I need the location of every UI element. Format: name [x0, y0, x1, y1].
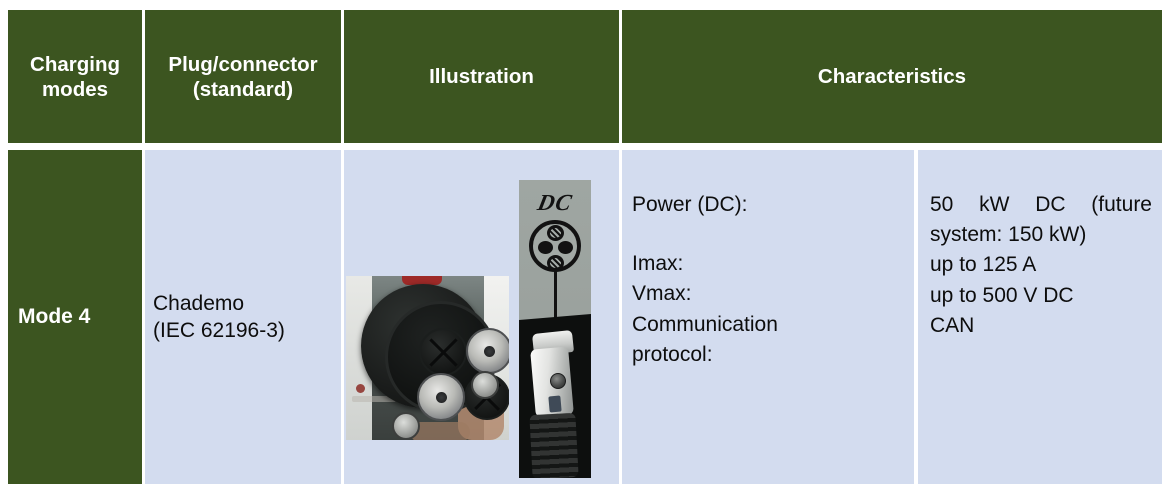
- value-vmax: up to 500 V DC: [930, 281, 1152, 311]
- dc-charging-station-photo: DC: [519, 180, 591, 478]
- header-cell-characteristics: Characteristics: [622, 10, 1162, 143]
- header-label-illustration: Illustration: [429, 64, 534, 89]
- value-imax: up to 125 A: [930, 250, 1152, 280]
- socket-pin-right: [558, 241, 573, 254]
- label-imax: Imax:: [632, 249, 914, 279]
- pictogram-stem: [554, 270, 557, 318]
- cell-characteristic-labels: Power (DC): Imax: Vmax: Communication pr…: [622, 150, 914, 484]
- connector-red-dot: [356, 384, 365, 393]
- header-cell-illustration: Illustration: [344, 10, 619, 143]
- connector-bolt-1: [471, 371, 499, 399]
- header-cell-charging-modes: Charging modes: [8, 10, 142, 143]
- header-cell-plug-connector: Plug/connector (standard): [145, 10, 341, 143]
- connector-pin-metal-1: [466, 328, 509, 374]
- label-communication: Communication: [632, 310, 914, 340]
- value-power-line1: 50 kW DC (future: [930, 190, 1152, 220]
- connector-outer-ring: [361, 284, 485, 408]
- socket-pin-left: [538, 241, 553, 254]
- plug-name: Chademo: [153, 292, 244, 315]
- header-label-characteristics: Characteristics: [818, 64, 966, 89]
- connector-bolt-2: [392, 412, 420, 440]
- cell-characteristic-values: 50 kW DC (future system: 150 kW) up to 1…: [918, 150, 1162, 484]
- label-vmax: Vmax:: [632, 279, 914, 309]
- header-label-plug-connector: Plug/connector (standard): [168, 52, 317, 102]
- plug-screw: [550, 373, 566, 389]
- dc-label: DC: [535, 190, 574, 216]
- plug-cable: [529, 413, 578, 478]
- plug-standard: (IEC 62196-3): [153, 319, 285, 342]
- value-communication-protocol: CAN: [930, 311, 1152, 341]
- mode-label: Mode 4: [18, 305, 90, 329]
- connector-pin-large-1: [419, 328, 467, 376]
- header-line-charging: Charging: [30, 53, 120, 76]
- header-line-modes: modes: [42, 78, 108, 101]
- cell-plug-connector: Chademo (IEC 62196-3): [145, 150, 341, 484]
- table-body-row-mode-4: Mode 4 Chademo (IEC 62196-3): [8, 150, 1162, 484]
- plug-release-button: [548, 396, 561, 413]
- chademo-connector-photo: [346, 276, 509, 440]
- label-spacer: [632, 220, 914, 249]
- value-power-line2: system: 150 kW): [930, 220, 1152, 250]
- cell-charging-mode: Mode 4: [8, 150, 142, 484]
- header-line-standard: (standard): [193, 78, 293, 101]
- cell-illustration: DC: [344, 150, 619, 484]
- plug-connector-text: Chademo (IEC 62196-3): [153, 290, 285, 345]
- header-label-charging-modes: Charging modes: [30, 52, 120, 102]
- connector-pin-metal-2: [417, 373, 465, 421]
- label-power: Power (DC):: [632, 190, 914, 220]
- socket-pin-top: [547, 225, 564, 241]
- header-line-plug: Plug/connector: [168, 53, 317, 76]
- charging-modes-table: Charging modes Plug/connector (standard)…: [8, 10, 1162, 484]
- table-header-row: Charging modes Plug/connector (standard)…: [8, 10, 1162, 143]
- dc-socket-pictogram-icon: [529, 220, 581, 272]
- socket-pin-bottom: [547, 255, 564, 271]
- label-protocol: protocol:: [632, 340, 914, 370]
